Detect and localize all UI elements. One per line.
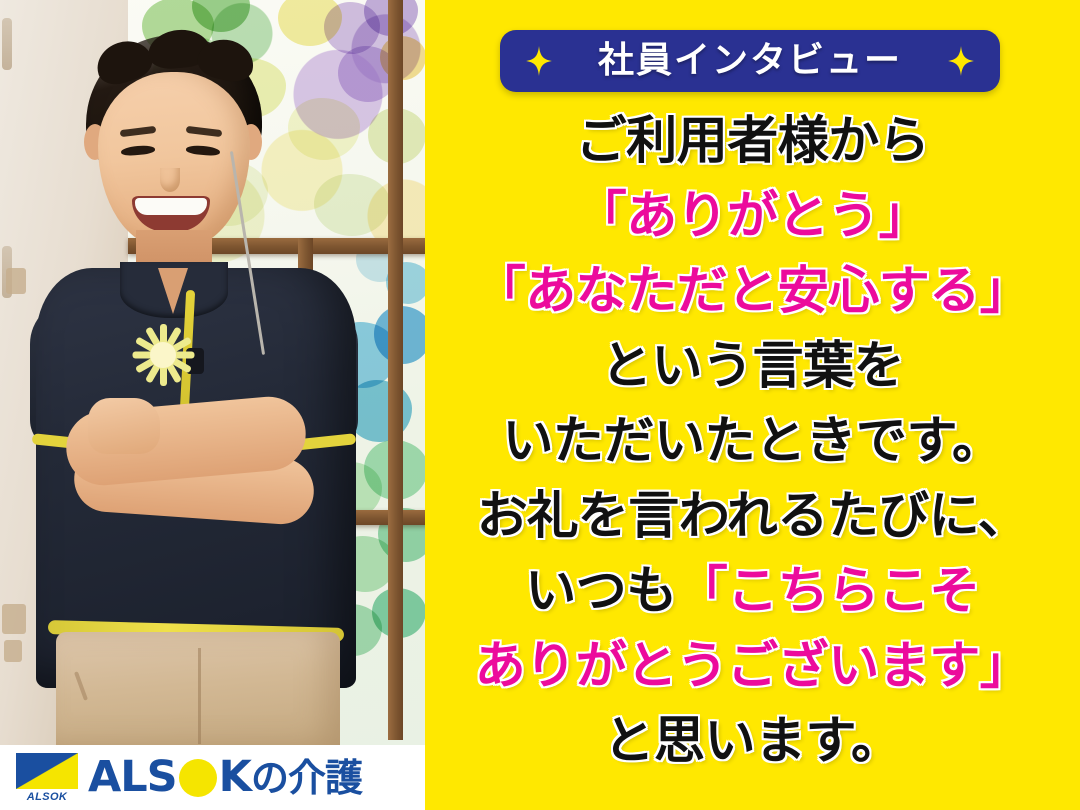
- quote-line: 「あなただと安心する」: [433, 254, 1072, 329]
- alsok-wordmark: ALS K の介護: [88, 756, 362, 799]
- message-panel: 社員インタビュー ご利用者様から「ありがとう」「あなただと安心する」という言葉を…: [425, 0, 1080, 810]
- quote-segment-magenta: 「あなただと安心する」: [475, 262, 1031, 321]
- quote-segment-magenta: 「こちらこそ: [677, 562, 980, 621]
- alsok-logo-mark-icon: ALSOK: [16, 753, 78, 803]
- quote-line: お礼を言われるたびに、: [433, 479, 1072, 554]
- quote-line: という言葉を: [433, 329, 1072, 404]
- photo-scene: [0, 0, 425, 810]
- hand: [88, 398, 160, 454]
- quote-line: ご利用者様から: [433, 104, 1072, 179]
- alsok-diagonal-mark: [16, 753, 78, 789]
- quote-line: いただいたときです。: [433, 404, 1072, 479]
- quote-segment-black: いつも: [525, 562, 677, 621]
- nose: [160, 168, 180, 192]
- interview-poster: ALSOK ALS K の介護 社員インタビュー ご利用者様から「ありがとう」「…: [0, 0, 1080, 810]
- quote-segment-black: お礼を言われるたびに、: [477, 487, 1028, 546]
- quote-line: と思います。: [433, 704, 1072, 779]
- quote-segment-magenta: ありがとうございます」: [475, 637, 1031, 696]
- quote-segment-black: と思います。: [604, 712, 902, 771]
- quote-segment-magenta: 「ありがとう」: [576, 187, 930, 246]
- quote-line: ありがとうございます」: [433, 629, 1072, 704]
- staff-person: [0, 0, 425, 810]
- alsok-word-o-circle-icon: [179, 759, 217, 797]
- teeth: [135, 198, 207, 215]
- pants-seam: [198, 648, 201, 744]
- emblem-center: [150, 342, 176, 368]
- quote-segment-black: ご利用者様から: [576, 112, 930, 171]
- alsok-logo-bar: ALSOK ALS K の介護: [0, 745, 425, 810]
- interview-quote: ご利用者様から「ありがとう」「あなただと安心する」という言葉をいただいたときです…: [425, 104, 1080, 779]
- interview-badge-label: 社員インタビュー: [552, 43, 948, 79]
- quote-line: 「ありがとう」: [433, 179, 1072, 254]
- alsok-word-k: K: [219, 756, 251, 799]
- sunflower-emblem: [124, 322, 202, 394]
- alsok-mark-caption: ALSOK: [20, 791, 74, 803]
- quote-segment-black: いただいたときです。: [503, 412, 1003, 471]
- alsok-suffix-kaigo: の介護: [251, 759, 362, 797]
- interview-badge: 社員インタビュー: [500, 30, 1000, 92]
- sparkle-icon: [526, 46, 552, 76]
- sparkle-icon: [948, 46, 974, 76]
- quote-line: いつも「こちらこそ: [433, 554, 1072, 629]
- staff-photo: [0, 0, 425, 810]
- alsok-word-als: ALS: [88, 756, 177, 799]
- quote-segment-black: という言葉を: [601, 337, 904, 396]
